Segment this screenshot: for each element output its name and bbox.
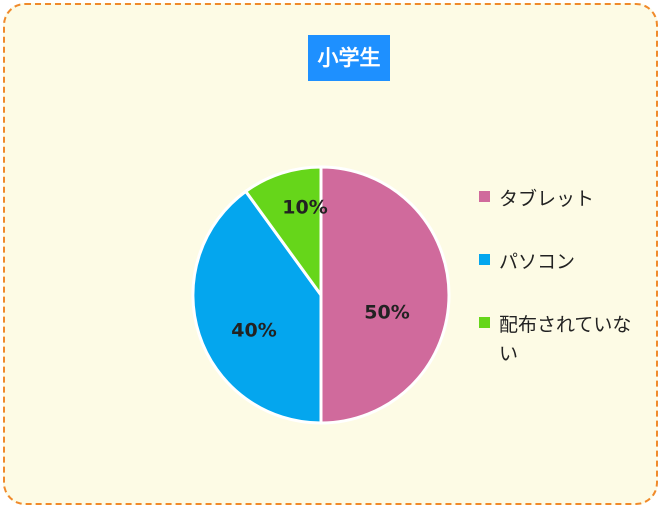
chart-title-badge: 小学生 [308,35,390,81]
pie-chart: 50% 40% 10% [191,165,451,425]
page-title: 小学生 [318,48,381,69]
pie-label-not-distributed: 10% [282,197,327,219]
pie-chart-svg: 50% 40% 10% [191,165,451,425]
legend-swatch-icon [479,254,490,265]
legend-swatch-icon [479,317,490,328]
pie-label-pc: 40% [231,320,276,342]
pie-label-tablet: 50% [364,302,409,324]
legend-swatch-icon [479,191,490,202]
pie-slice-tablet[interactable] [321,167,449,423]
chart-legend: タブレット パソコン 配布されていない [479,185,644,403]
legend-item-label: 配布されていない [499,311,644,369]
chart-card: 小学生 50% 40% 10% タブレット パソコン 配布されていない [3,3,658,505]
legend-item-tablet[interactable]: タブレット [479,185,644,214]
legend-item-pc[interactable]: パソコン [479,248,644,277]
legend-item-not-distributed[interactable]: 配布されていない [479,311,644,369]
legend-item-label: タブレット [499,185,594,214]
legend-item-label: パソコン [499,248,575,277]
